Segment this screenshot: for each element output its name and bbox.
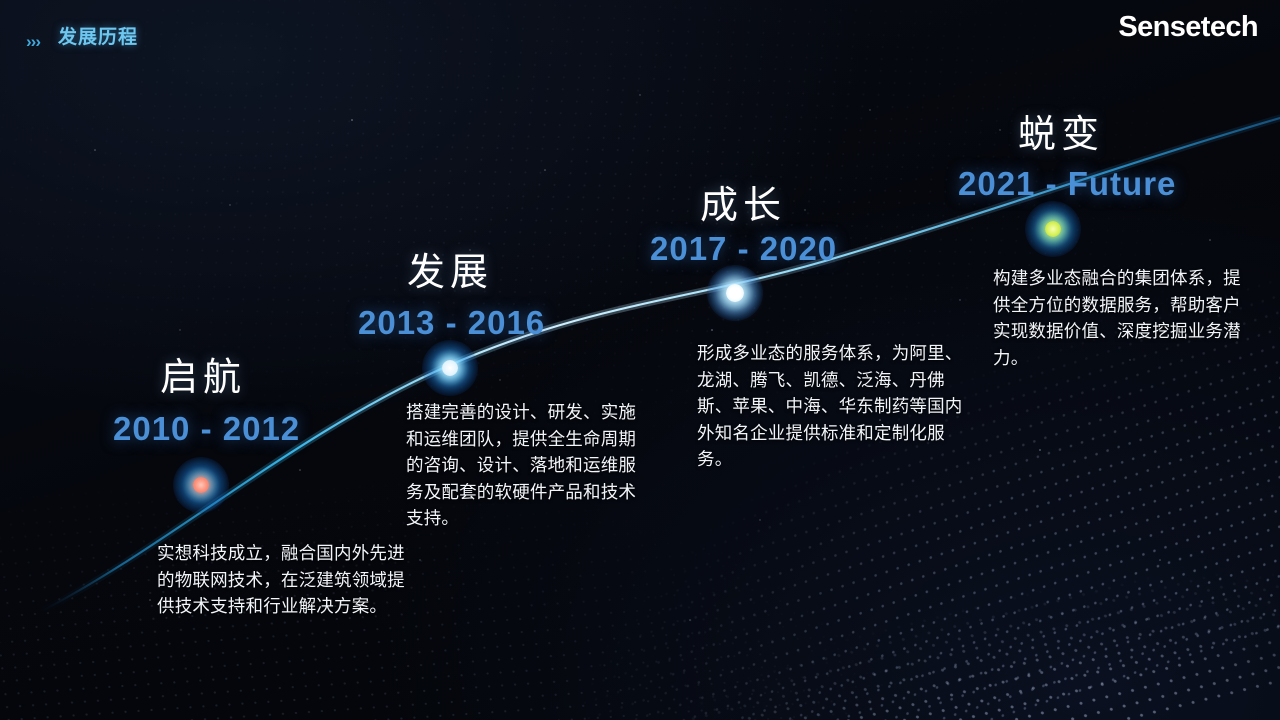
node-core-icon — [726, 284, 744, 302]
slide-header: ››› 发展历程 Sensetech — [0, 0, 1280, 62]
milestone-title: 启航 — [160, 358, 246, 396]
chevron-right-icon: ››› — [26, 33, 40, 50]
milestone-description: 形成多业态的服务体系，为阿里、龙湖、腾飞、凯德、泛海、丹佛斯、苹果、中海、华东制… — [697, 340, 969, 473]
timeline-node-2013[interactable] — [422, 340, 478, 396]
node-core-icon — [1045, 221, 1061, 237]
milestone-title: 成长 — [700, 186, 786, 224]
milestone-years: 2010 - 2012 — [113, 412, 300, 445]
milestone-years: 2021 - Future — [958, 167, 1176, 200]
brand-logo: Sensetech — [1118, 13, 1258, 42]
milestone-years: 2013 - 2016 — [358, 306, 545, 339]
timeline-node-2021[interactable] — [1025, 201, 1081, 257]
slide-canvas: ››› 发展历程 Sensetech 启航 — [0, 0, 1280, 720]
milestone-years: 2017 - 2020 — [650, 232, 837, 265]
timeline-node-2017[interactable] — [707, 265, 763, 321]
node-core-icon — [193, 477, 209, 493]
timeline-node-2010[interactable] — [173, 457, 229, 513]
page-title: 发展历程 — [58, 28, 138, 47]
milestone-title: 发展 — [407, 253, 493, 291]
milestone-description: 实想科技成立，融合国内外先进的物联网技术，在泛建筑领域提供技术支持和行业解决方案… — [157, 540, 419, 620]
milestone-title: 蜕变 — [1018, 115, 1104, 153]
node-core-icon — [442, 360, 458, 376]
milestone-description: 搭建完善的设计、研发、实施和运维团队，提供全生命周期的咨询、设计、落地和运维服务… — [406, 399, 650, 532]
milestone-description: 构建多业态融合的集团体系，提供全方位的数据服务，帮助客户实现数据价值、深度挖掘业… — [993, 265, 1251, 371]
